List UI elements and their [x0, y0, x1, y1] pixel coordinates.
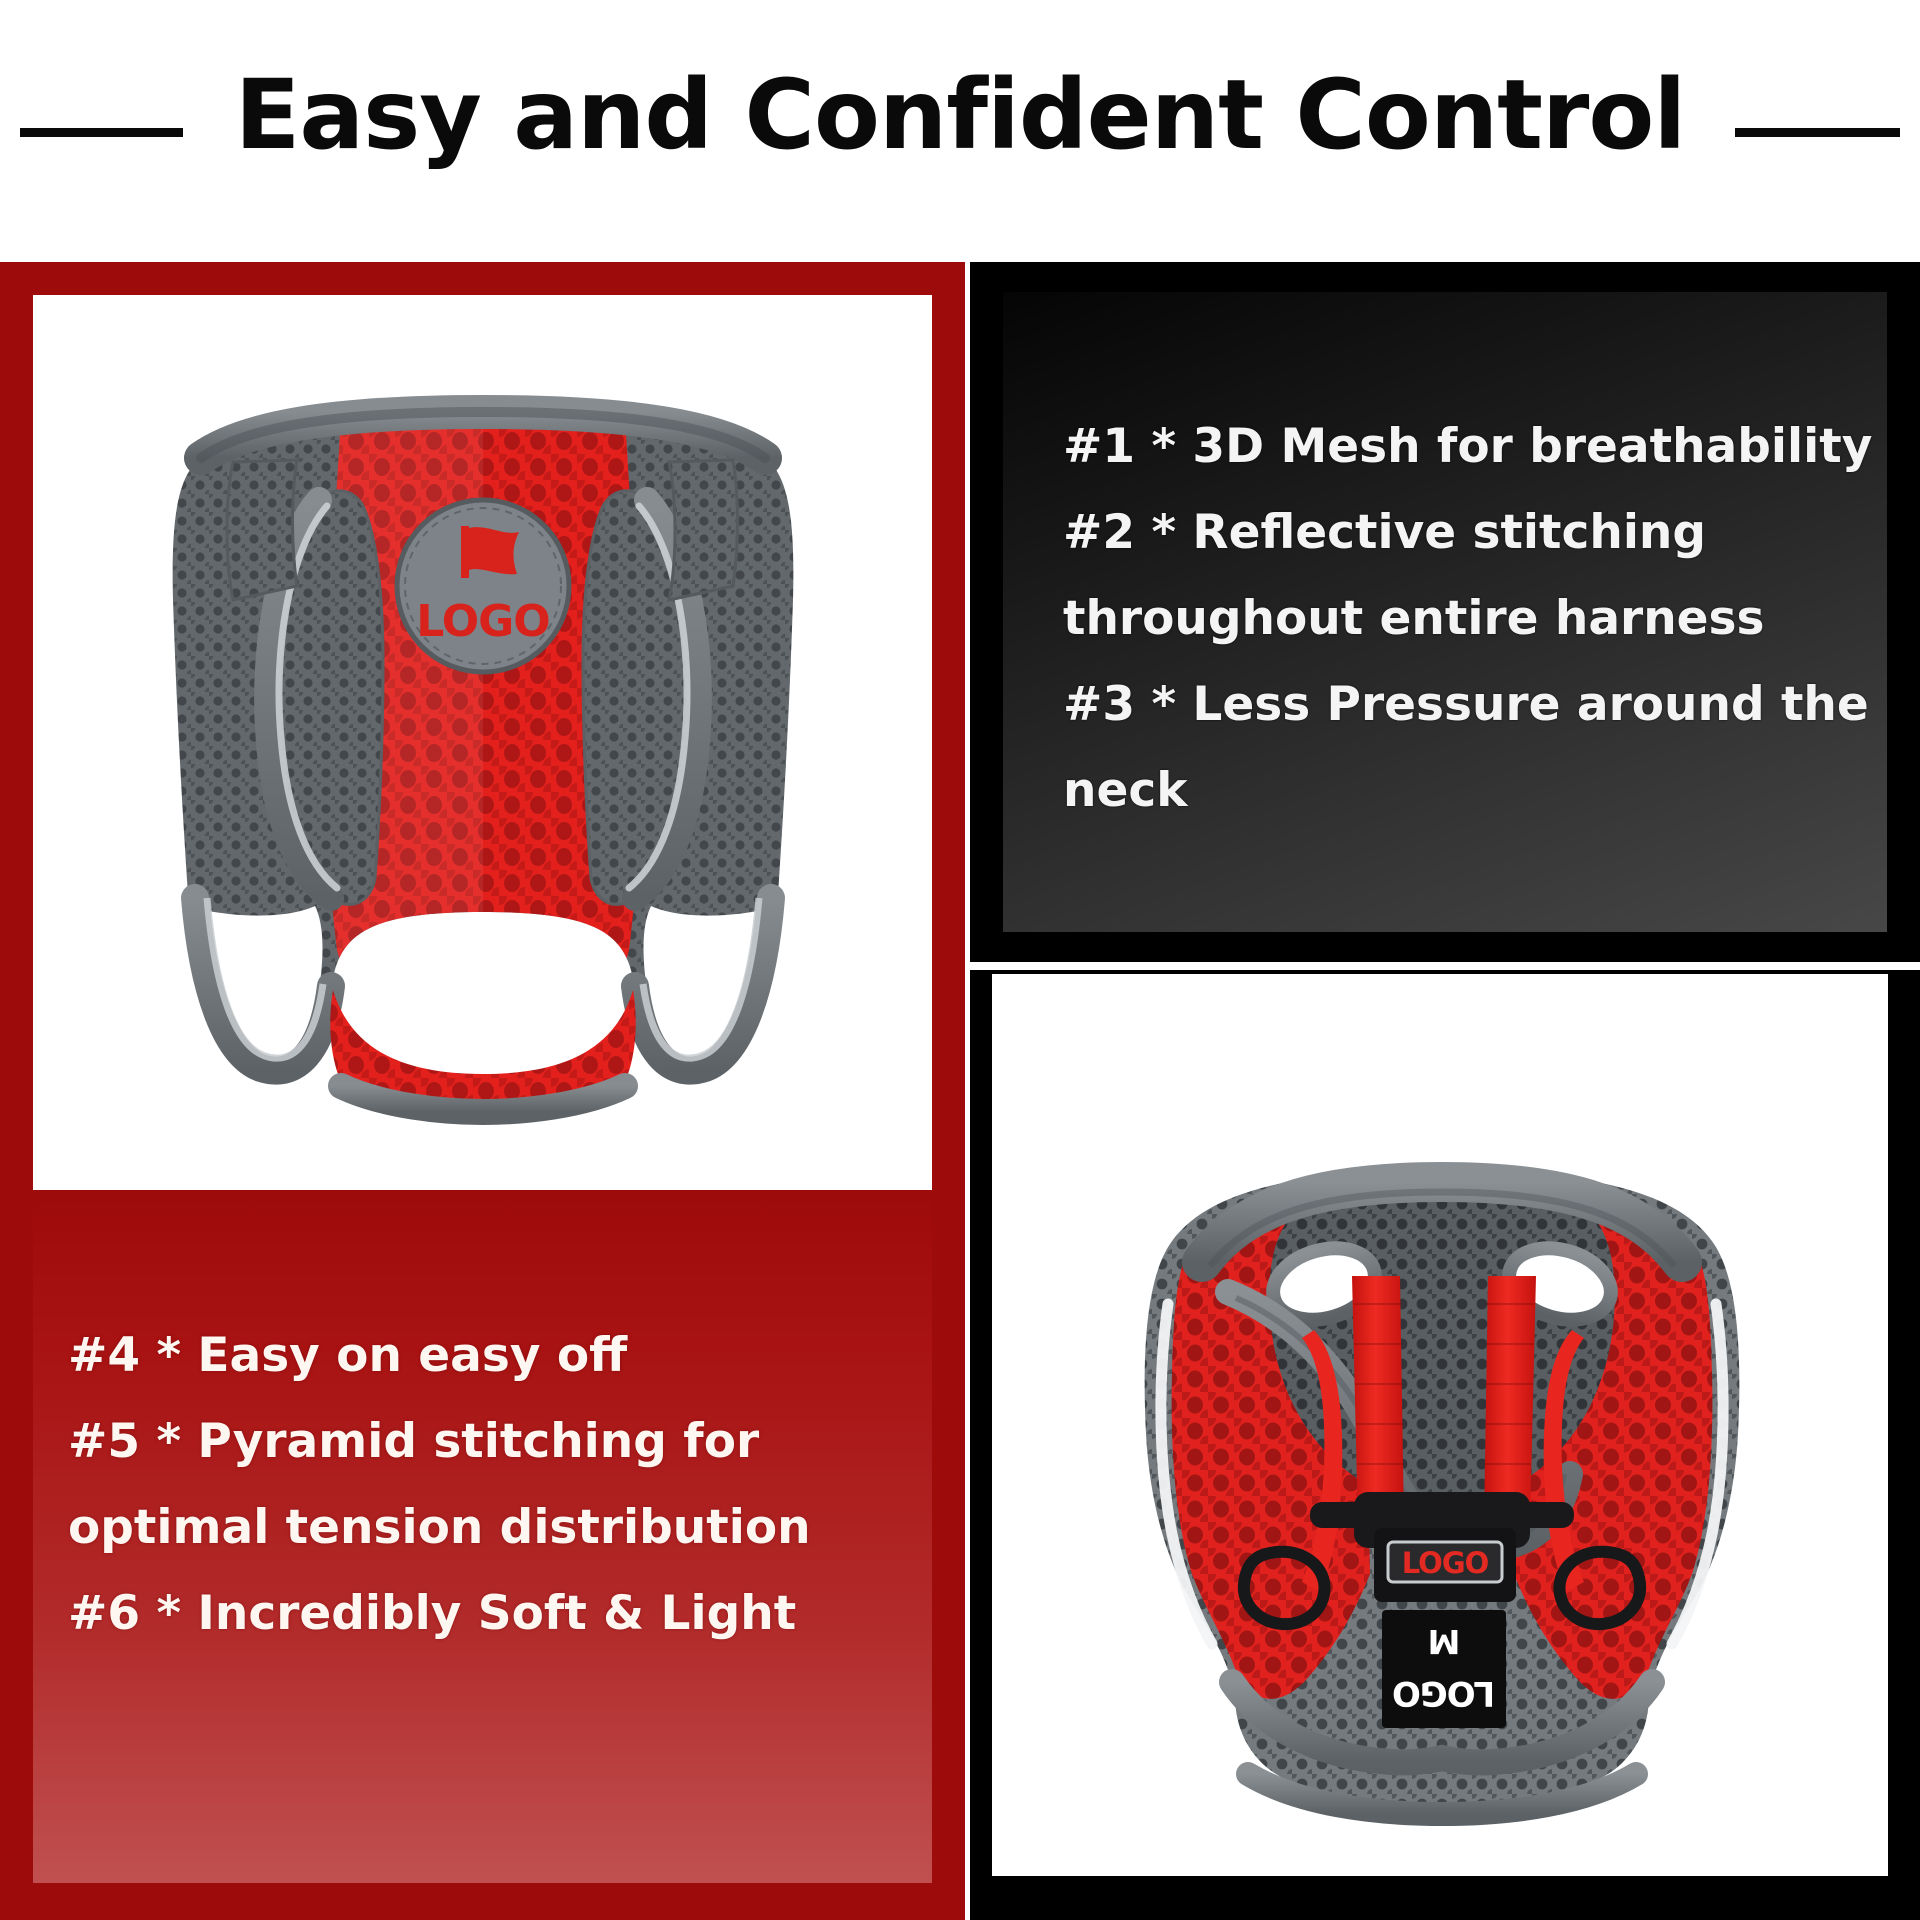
features-panel-top-right: #1 * 3D Mesh for breathability #2 * Refl…: [1003, 292, 1887, 932]
right-black-column: #1 * 3D Mesh for breathability #2 * Refl…: [970, 262, 1920, 962]
feature-line-3: #3 * Less Pressure around the: [1063, 662, 1863, 748]
feature-line-5: #5 * Pyramid stitching for: [68, 1399, 918, 1485]
size-tag: M LOGO: [1382, 1610, 1506, 1728]
page-title: Easy and Confident Control: [0, 40, 1920, 190]
feature-line-5-cont: optimal tension distribution: [68, 1485, 918, 1571]
harness-back-illustration: LOGO M LOGO: [1052, 1054, 1832, 1844]
feature-line-4: #4 * Easy on easy off: [68, 1313, 918, 1399]
header-bar: Easy and Confident Control: [0, 40, 1920, 210]
feature-line-2: #2 * Reflective stitching: [1063, 490, 1863, 576]
product-photo-back: LOGO M LOGO: [992, 974, 1888, 1876]
harness-front-illustration: LOGO: [83, 350, 883, 1140]
feature-line-2-cont: throughout entire harness: [1063, 576, 1863, 662]
svg-text:LOGO: LOGO: [1393, 1673, 1495, 1713]
product-photo-front: LOGO: [33, 295, 932, 1190]
features-list-red: #4 * Easy on easy off #5 * Pyramid stitc…: [68, 1313, 918, 1657]
feature-line-3-cont: neck: [1063, 748, 1863, 834]
title-rule-right: [1735, 128, 1900, 137]
svg-text:LOGO: LOGO: [1402, 1546, 1489, 1580]
right-photo-column: LOGO M LOGO: [970, 970, 1920, 1920]
feature-line-1: #1 * 3D Mesh for breathability: [1063, 404, 1863, 490]
svg-text:M: M: [1428, 1622, 1461, 1661]
left-red-column: LOGO #4 * Easy on easy off #5 * Pyramid …: [0, 262, 965, 1920]
features-list-dark: #1 * 3D Mesh for breathability #2 * Refl…: [1063, 404, 1863, 834]
svg-text:LOGO: LOGO: [416, 596, 549, 647]
features-panel-bottom-left: #4 * Easy on easy off #5 * Pyramid stitc…: [33, 1195, 932, 1883]
logo-badge: LOGO: [397, 500, 569, 672]
feature-line-6: #6 * Incredibly Soft & Light: [68, 1571, 918, 1657]
infographic-root: Easy and Confident Control: [0, 0, 1920, 1920]
